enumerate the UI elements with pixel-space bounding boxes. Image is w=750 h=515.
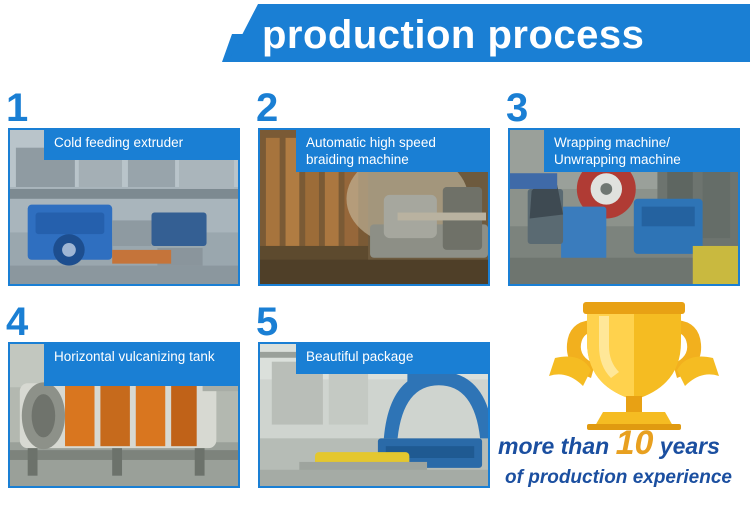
step-label-3: Wrapping machine/ Unwrapping machine xyxy=(544,128,740,172)
trophy-icon xyxy=(525,298,743,430)
step-number-5: 5 xyxy=(256,302,278,342)
step-card-5: Beautiful package xyxy=(258,342,490,488)
slogan-number: 10 xyxy=(616,424,654,462)
page-title: production process xyxy=(262,8,742,62)
step-label-5: Beautiful package xyxy=(296,342,490,374)
step-number-4: 4 xyxy=(6,302,28,342)
step-card-3: Wrapping machine/ Unwrapping machine xyxy=(508,128,740,286)
step-label-1: Cold feeding extruder xyxy=(44,128,240,160)
step-card-1: Cold feeding extruder xyxy=(8,128,240,286)
step-number-1: 1 xyxy=(6,88,28,128)
slogan-prefix: more than xyxy=(498,433,609,459)
step-number-3: 3 xyxy=(506,88,528,128)
slogan-line-1: more than 10 years xyxy=(498,424,750,463)
page-header: production process xyxy=(228,4,750,64)
slogan-line-2: of production experience xyxy=(505,467,750,489)
step-label-4: Horizontal vulcanizing tank xyxy=(44,342,240,386)
slogan-suffix: years xyxy=(660,433,720,459)
step-card-2: Automatic high speed braiding machine xyxy=(258,128,490,286)
step-number-2: 2 xyxy=(256,88,278,128)
step-label-2: Automatic high speed braiding machine xyxy=(296,128,490,172)
step-card-4: Horizontal vulcanizing tank xyxy=(8,342,240,488)
